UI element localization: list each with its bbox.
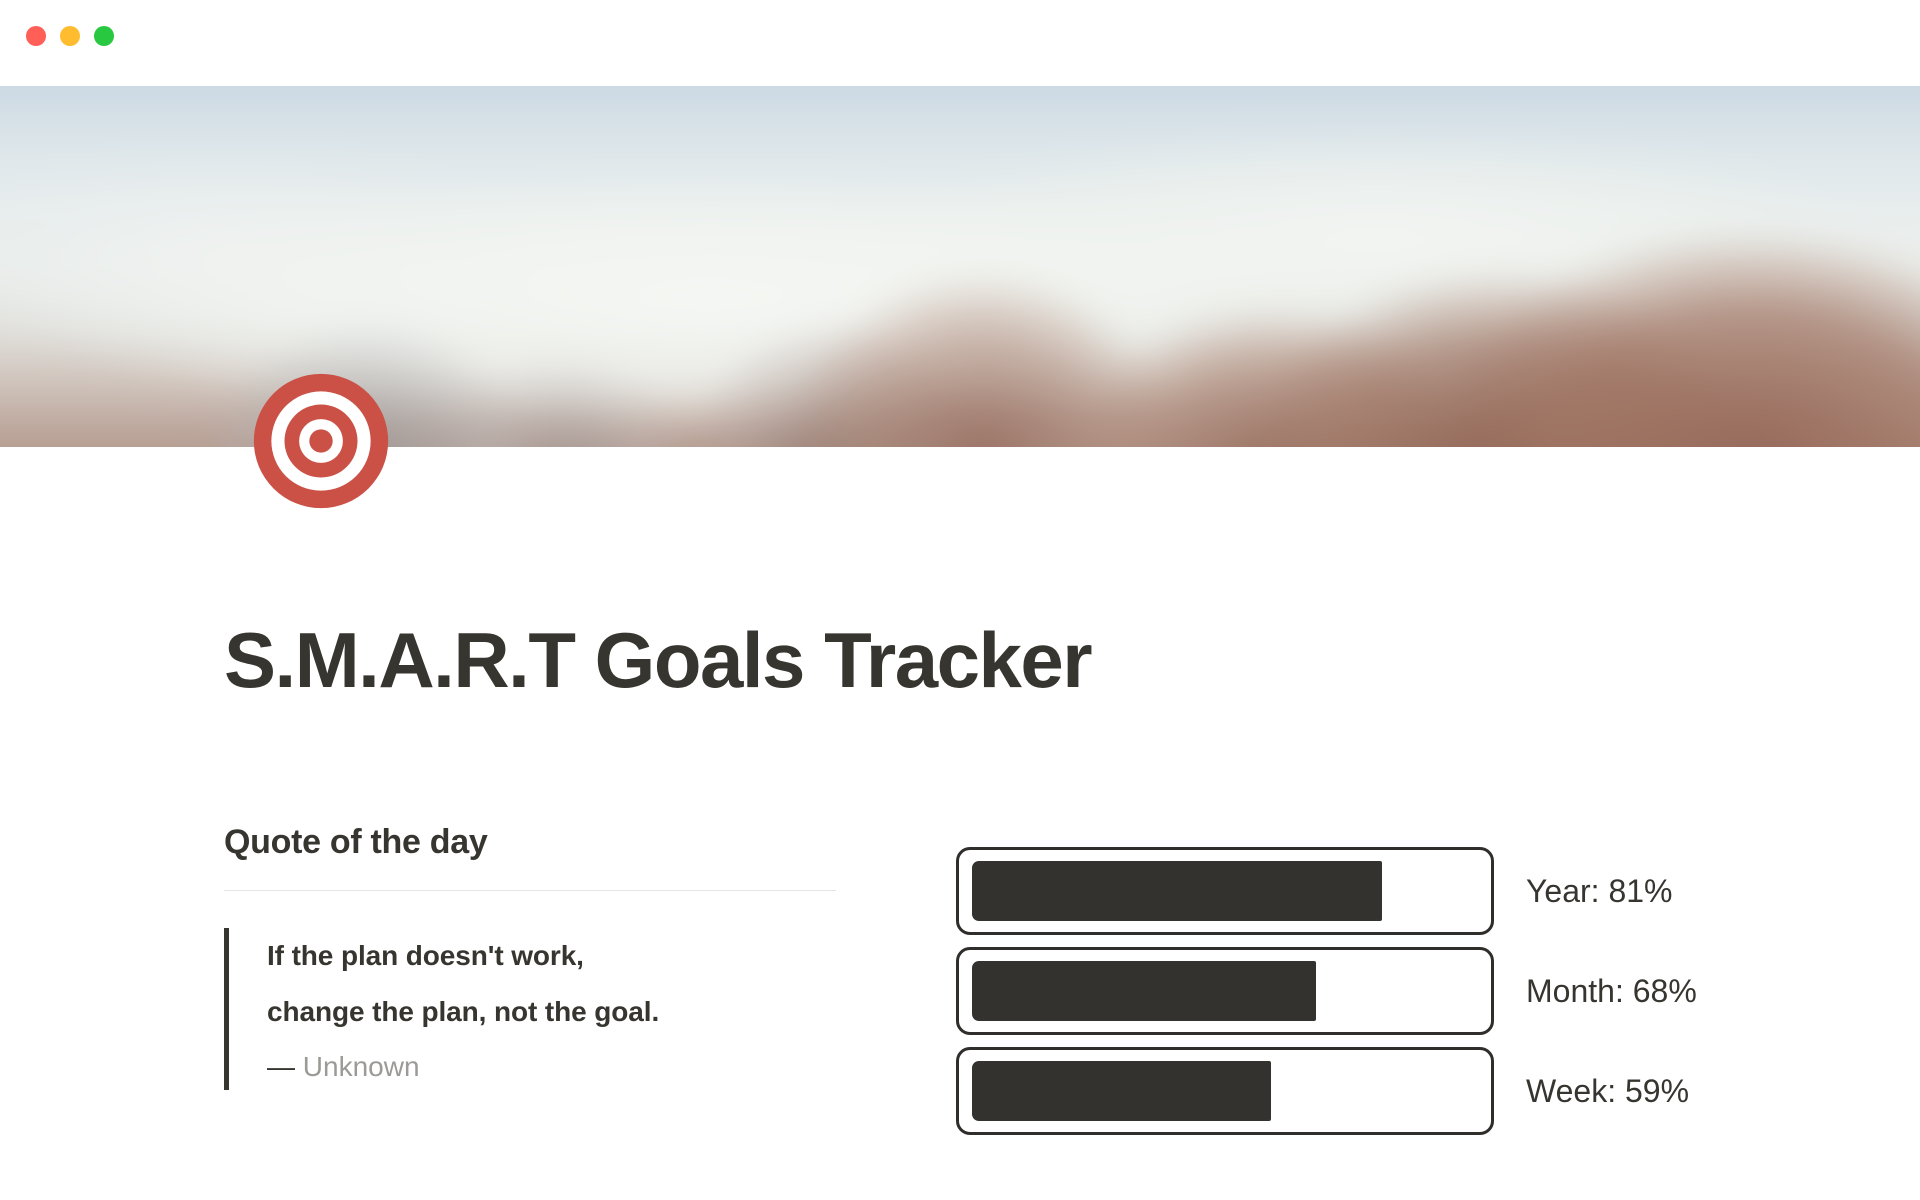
quote-line-1: If the plan doesn't work, bbox=[267, 928, 836, 984]
progress-bars-section: Year: 81% Month: 68% Week: 59% bbox=[956, 846, 1736, 1146]
window-titlebar bbox=[0, 0, 1920, 86]
quote-block[interactable]: If the plan doesn't work, change the pla… bbox=[224, 928, 836, 1090]
progress-track-month[interactable] bbox=[956, 947, 1494, 1035]
quote-section-heading[interactable]: Quote of the day bbox=[224, 820, 836, 864]
section-divider bbox=[224, 890, 836, 891]
progress-track-week[interactable] bbox=[956, 1047, 1494, 1135]
app-window: S.M.A.R.T Goals Tracker Quote of the day… bbox=[0, 0, 1920, 1200]
quote-author: Unknown bbox=[303, 1051, 420, 1082]
quote-attribution: — Unknown bbox=[267, 1044, 836, 1090]
progress-fill-month bbox=[972, 961, 1316, 1021]
quote-line-2: change the plan, not the goal. bbox=[267, 984, 836, 1040]
quote-of-the-day-section: Quote of the day If the plan doesn't wor… bbox=[224, 820, 836, 1090]
bullseye-target-icon[interactable] bbox=[248, 368, 394, 514]
progress-row-week: Week: 59% bbox=[956, 1046, 1736, 1136]
close-button[interactable] bbox=[26, 26, 46, 46]
progress-fill-year bbox=[972, 861, 1382, 921]
page-title[interactable]: S.M.A.R.T Goals Tracker bbox=[224, 612, 1091, 708]
progress-label-month: Month: 68% bbox=[1526, 971, 1697, 1011]
progress-fill-wrap-year bbox=[972, 861, 1478, 921]
progress-label-week: Week: 59% bbox=[1526, 1071, 1689, 1111]
minimize-button[interactable] bbox=[60, 26, 80, 46]
maximize-button[interactable] bbox=[94, 26, 114, 46]
window-controls bbox=[26, 26, 114, 46]
progress-label-year: Year: 81% bbox=[1526, 871, 1672, 911]
progress-row-month: Month: 68% bbox=[956, 946, 1736, 1036]
progress-fill-week bbox=[972, 1061, 1271, 1121]
progress-track-year[interactable] bbox=[956, 847, 1494, 935]
progress-row-year: Year: 81% bbox=[956, 846, 1736, 936]
progress-fill-wrap-week bbox=[972, 1061, 1478, 1121]
progress-fill-wrap-month bbox=[972, 961, 1478, 1021]
attribution-dash: — bbox=[267, 1051, 295, 1082]
